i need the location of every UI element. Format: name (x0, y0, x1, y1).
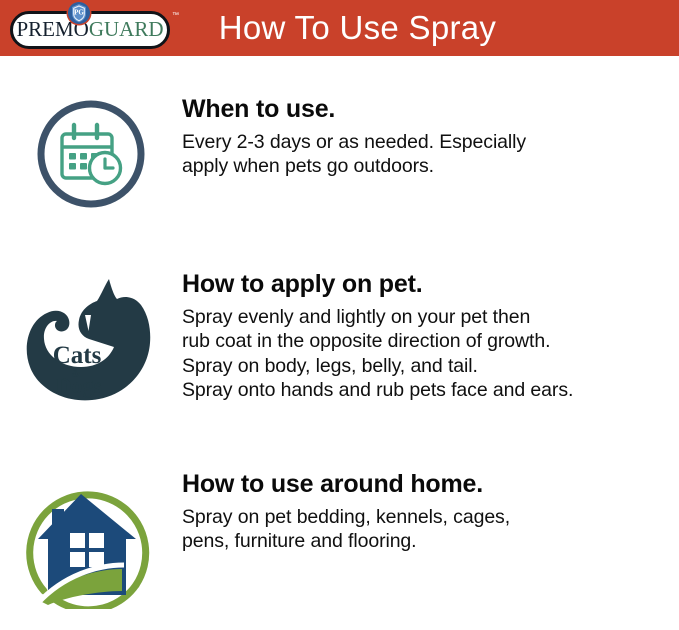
brand-logo: PG PREMOGUARD ™ (0, 0, 186, 56)
section-heading: How to apply on pet. (182, 271, 669, 299)
page-title: How To Use Spray (186, 9, 679, 47)
section-heading: When to use. (182, 96, 669, 124)
icon-column (0, 96, 182, 210)
section-body: Spray evenly and lightly on your pet the… (182, 305, 669, 403)
icon-label-cats: Cats (53, 342, 102, 369)
icon-label-dogs: Dogs (56, 373, 103, 398)
calendar-clock-icon (35, 98, 147, 210)
text-column: How to apply on pet. Spray evenly and li… (182, 271, 679, 403)
shield-badge-icon: PG (66, 0, 92, 26)
icon-column: Cats & Dogs (0, 271, 182, 405)
badge-initials: PG (74, 9, 84, 17)
section-how-to-use-around-home: How to use around home. Spray on pet bed… (0, 471, 679, 609)
trademark-symbol: ™ (172, 12, 179, 19)
icon-column (0, 471, 182, 609)
text-column: How to use around home. Spray on pet bed… (182, 471, 679, 554)
header-band: PG PREMOGUARD ™ How To Use Spray (0, 0, 679, 56)
section-body: Every 2-3 days or as needed. Especially … (182, 130, 669, 179)
house-leaf-icon (18, 473, 164, 609)
section-heading: How to use around home. (182, 471, 669, 499)
section-body: Spray on pet bedding, kennels, cages, pe… (182, 505, 669, 554)
instruction-sections: When to use. Every 2-3 days or as needed… (0, 56, 679, 630)
text-column: When to use. Every 2-3 days or as needed… (182, 96, 679, 179)
section-when-to-use: When to use. Every 2-3 days or as needed… (0, 96, 679, 210)
logo-word-guard: GUARD (89, 17, 164, 41)
cats-and-dogs-icon: Cats & Dogs (17, 273, 165, 405)
section-how-to-apply-on-pet: Cats & Dogs How to apply on pet. Spray e… (0, 271, 679, 405)
